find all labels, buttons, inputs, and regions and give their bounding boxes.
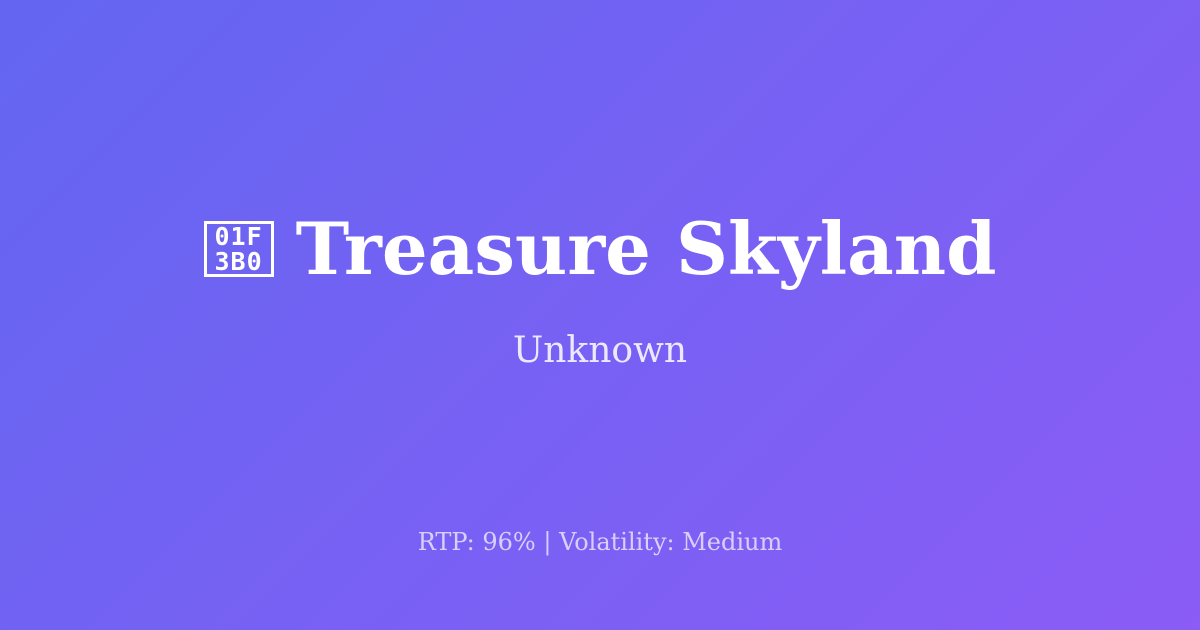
- page-title: 01F 3B0 Treasure Skyland: [204, 212, 997, 287]
- game-subtitle: Unknown: [513, 329, 687, 372]
- game-title-text: Treasure Skyland: [296, 212, 997, 287]
- og-share-card: 01F 3B0 Treasure Skyland Unknown RTP: 96…: [0, 0, 1200, 630]
- game-meta-line: RTP: 96% | Volatility: Medium: [0, 527, 1200, 557]
- tofu-codepoint-bottom: 3B0: [215, 249, 263, 274]
- tofu-codepoint-top: 01F: [215, 224, 263, 249]
- slot-machine-icon: 01F 3B0: [204, 221, 274, 277]
